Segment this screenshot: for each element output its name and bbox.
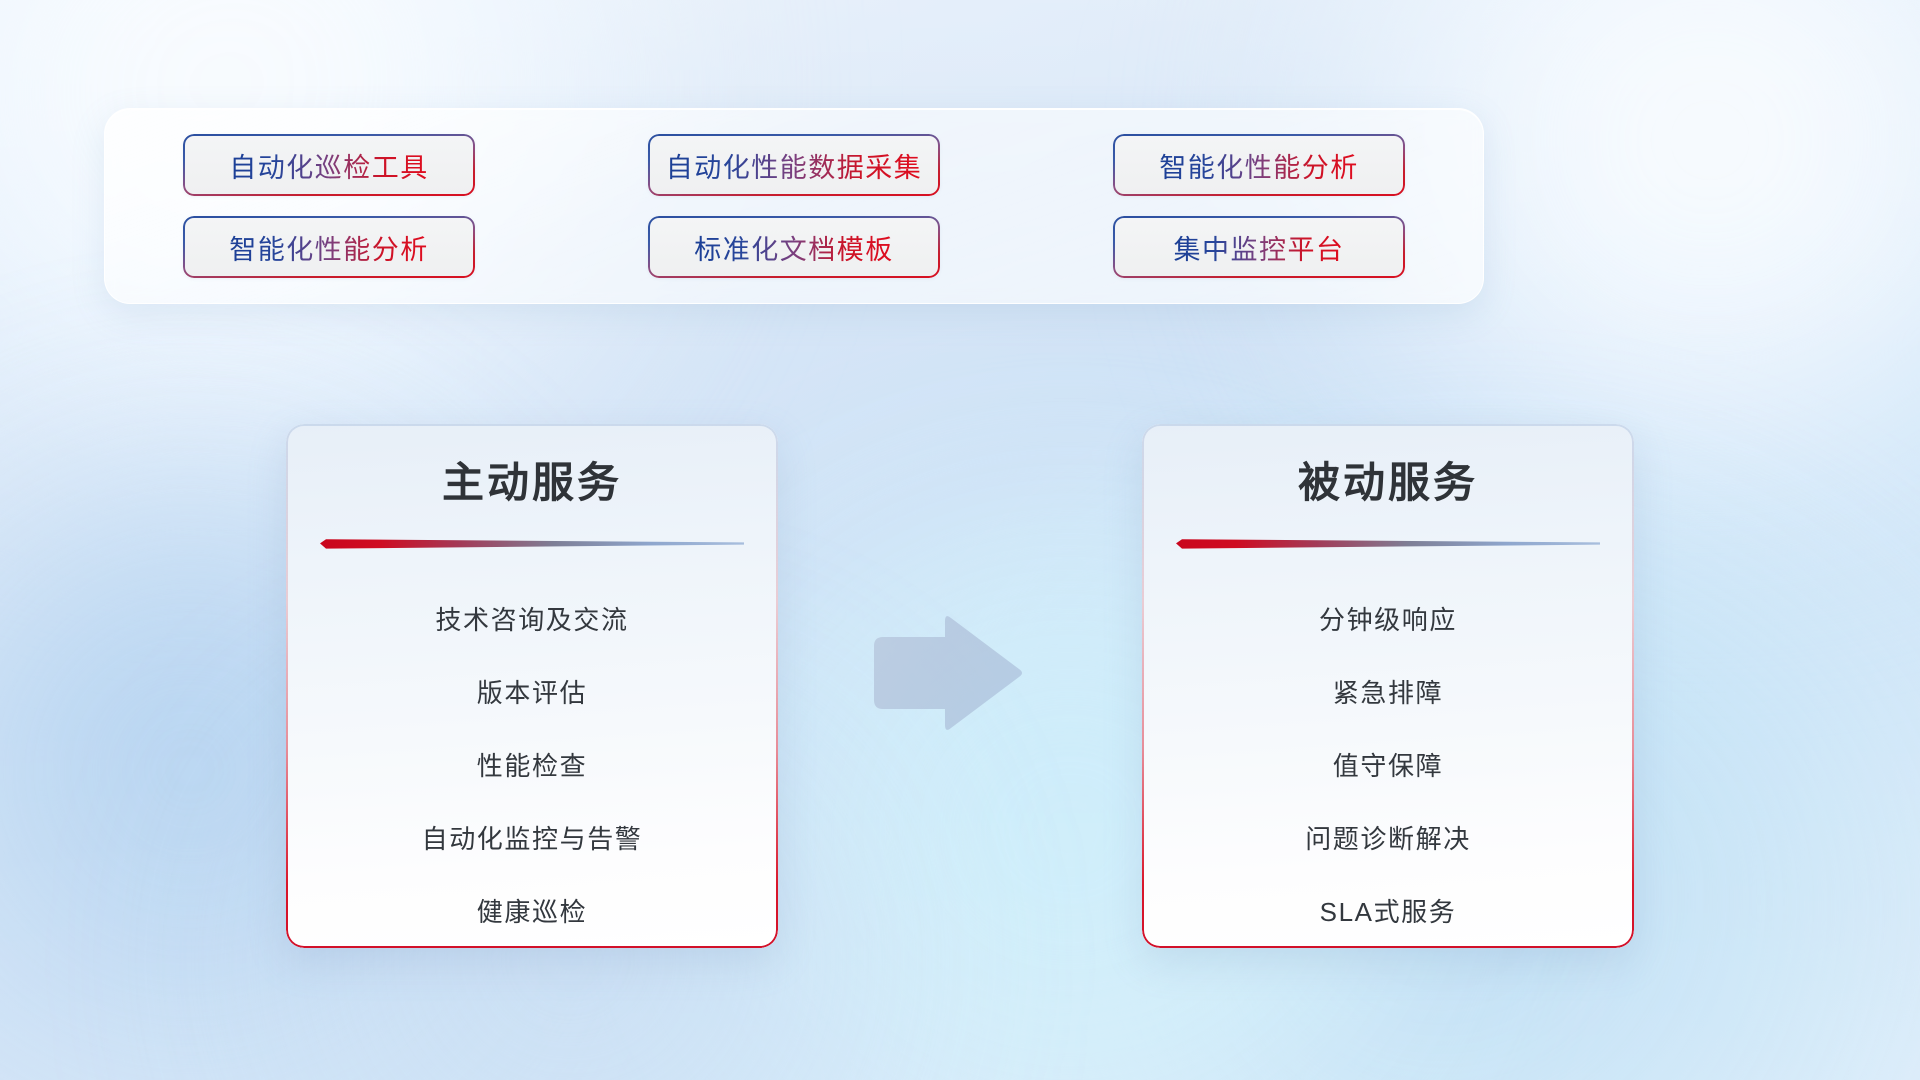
list-item: 值守保障 — [1333, 728, 1443, 801]
capability-pill-label: 智能化性能分析 — [1159, 146, 1359, 185]
capabilities-row-1: 自动化巡检工具 自动化性能数据采集 智能化性能分析 — [183, 134, 1405, 196]
capability-pill-standardized-document-template[interactable]: 标准化文档模板 — [648, 216, 940, 278]
capability-pill-automated-performance-data-collection[interactable]: 自动化性能数据采集 — [648, 134, 940, 196]
capability-pill-label: 集中监控平台 — [1174, 228, 1345, 267]
list-item: 性能检查 — [477, 728, 587, 801]
capability-pill-intelligent-performance-analysis-bottom[interactable]: 智能化性能分析 — [183, 216, 475, 278]
capability-pill-automated-inspection-tool[interactable]: 自动化巡检工具 — [183, 134, 475, 196]
list-item: 问题诊断解决 — [1305, 801, 1471, 874]
service-card-active: 主动服务 技术咨询及交流 版本评估 性能检查 — [286, 424, 778, 948]
capability-pill-intelligent-performance-analysis-top[interactable]: 智能化性能分析 — [1113, 134, 1405, 196]
capabilities-panel: 自动化巡检工具 自动化性能数据采集 智能化性能分析 智能化性能分析 标准化文档模… — [104, 108, 1484, 304]
list-item: 自动化监控与告警 — [422, 801, 643, 874]
list-item: SLA式服务 — [1320, 874, 1457, 947]
service-card-title: 主动服务 — [442, 462, 622, 504]
capability-pill-label: 智能化性能分析 — [229, 228, 429, 267]
service-card-title: 被动服务 — [1298, 462, 1478, 504]
capability-pill-label: 自动化巡检工具 — [229, 146, 429, 185]
arrow-right-icon — [866, 613, 1026, 733]
title-divider-gradient — [320, 538, 744, 552]
capability-pill-centralized-monitoring-platform[interactable]: 集中监控平台 — [1113, 216, 1405, 278]
list-item: 分钟级响应 — [1319, 582, 1457, 655]
capability-pill-label: 标准化文档模板 — [694, 228, 894, 267]
list-item: 紧急排障 — [1333, 655, 1443, 728]
service-card-list: 技术咨询及交流 版本评估 性能检查 自动化监控与告警 健康巡检 — [286, 582, 778, 947]
capability-pill-label: 自动化性能数据采集 — [666, 146, 923, 185]
list-item: 健康巡检 — [477, 874, 587, 947]
list-item: 版本评估 — [477, 655, 587, 728]
service-card-passive: 被动服务 分钟级响应 紧急排障 值守保障 — [1142, 424, 1634, 948]
list-item: 技术咨询及交流 — [435, 582, 628, 655]
title-divider-gradient — [1176, 538, 1600, 552]
service-card-list: 分钟级响应 紧急排障 值守保障 问题诊断解决 SLA式服务 — [1142, 582, 1634, 947]
capabilities-row-2: 智能化性能分析 标准化文档模板 集中监控平台 — [183, 216, 1405, 278]
